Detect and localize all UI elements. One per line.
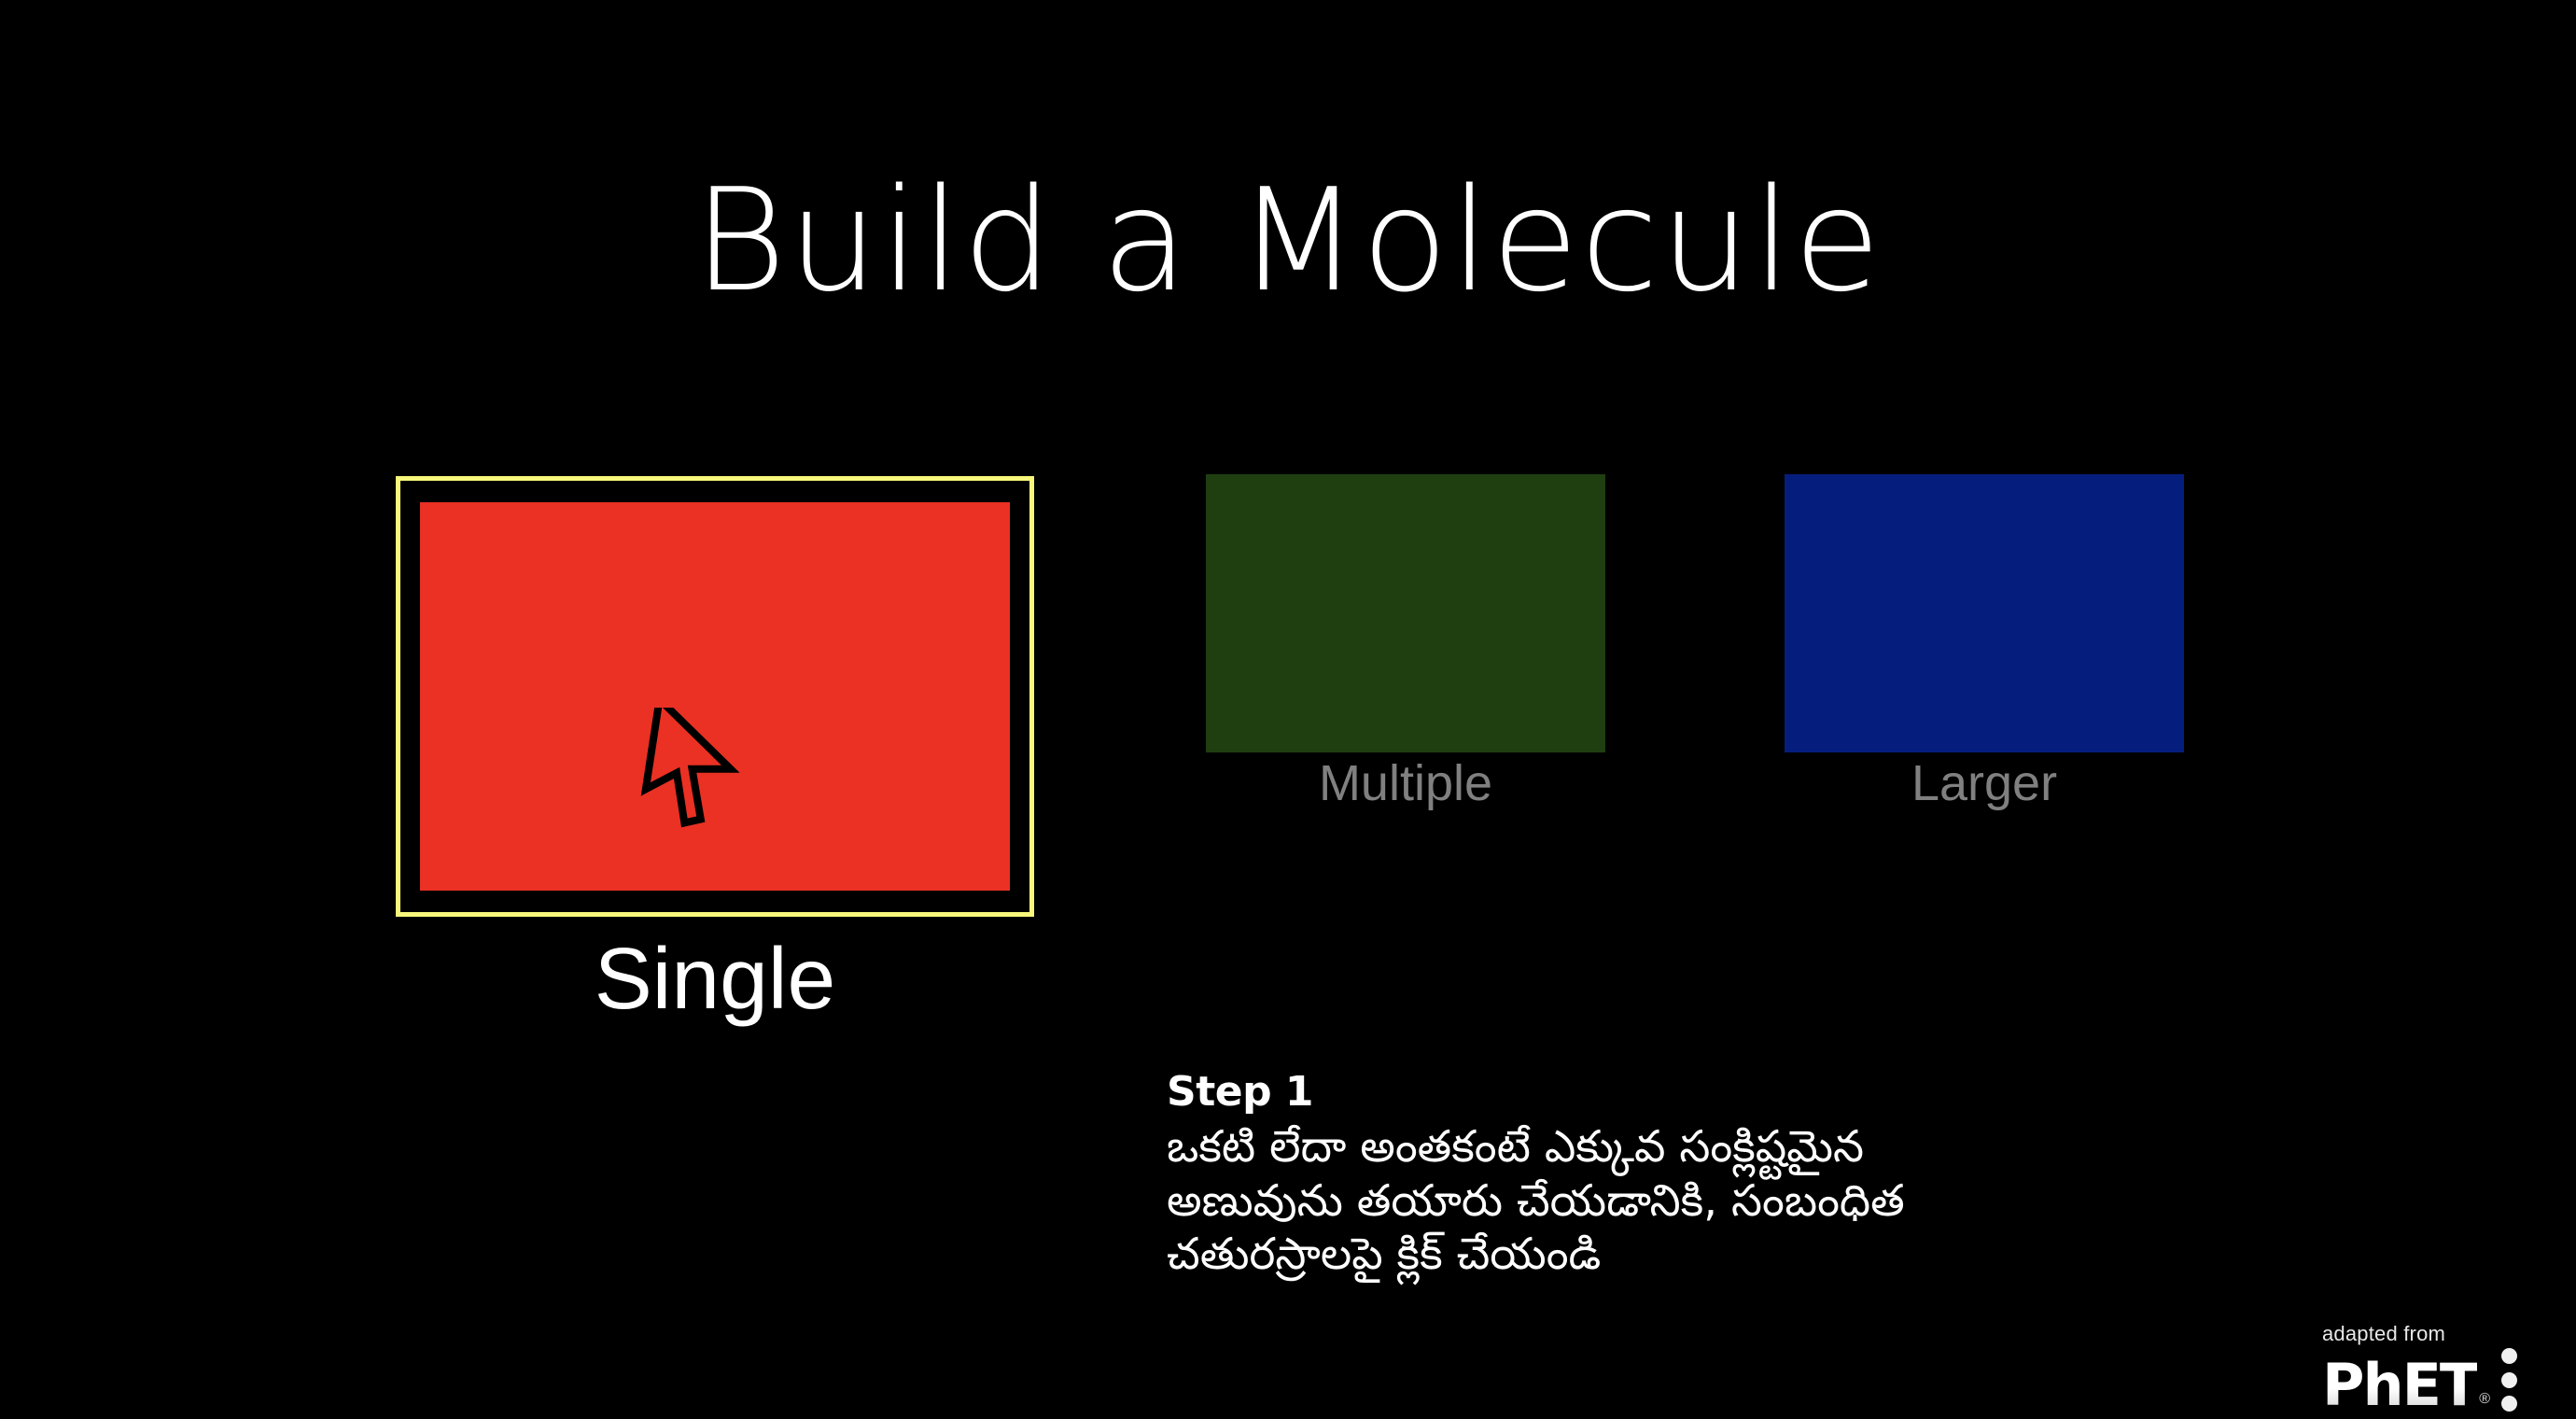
phet-dots-icon <box>2501 1348 2517 1412</box>
choice-label-single: Single <box>396 935 1034 1022</box>
step-body: ఒకటి లేదా అంతకంటే ఎక్కువ సంక్లిష్టమైన అణ… <box>1167 1120 2268 1281</box>
step-body-line-1: ఒకటి లేదా అంతకంటే ఎక్కువ సంక్లిష్టమైన <box>1167 1120 2268 1173</box>
phet-dot-2 <box>2501 1372 2517 1388</box>
phet-dot-3 <box>2501 1396 2517 1412</box>
step-body-line-2: అణువును తయారు చేయడానికి, సంబంధిత <box>1167 1174 2268 1228</box>
phet-logo: adapted from PhET ® <box>2322 1324 2555 1419</box>
phet-adapted-from-label: adapted from <box>2322 1324 2555 1344</box>
choice-label-multiple: Multiple <box>1206 758 1605 808</box>
step-body-line-3: చతురస్రాలపై క్లిక్ చేయండి <box>1167 1228 2268 1281</box>
step-heading: Step 1 <box>1167 1070 2268 1115</box>
choice-swatch-single[interactable] <box>420 502 1010 891</box>
choice-label-larger: Larger <box>1785 758 2184 808</box>
registered-trademark-icon: ® <box>2479 1391 2490 1408</box>
phet-dot-1 <box>2501 1348 2517 1364</box>
choice-swatch-larger[interactable] <box>1785 474 2184 752</box>
phet-brand-text: PhET <box>2322 1358 2477 1413</box>
instruction-block: Step 1 ఒకటి లేదా అంతకంటే ఎక్కువ సంక్లిష్… <box>1167 1070 2268 1281</box>
phet-wordmark: PhET ® <box>2322 1348 2555 1413</box>
page-title: Build a Molecule <box>0 166 2576 316</box>
choice-swatch-multiple[interactable] <box>1206 474 1605 752</box>
slide-canvas: Build a Molecule Single Multiple Larger … <box>0 0 2576 1419</box>
